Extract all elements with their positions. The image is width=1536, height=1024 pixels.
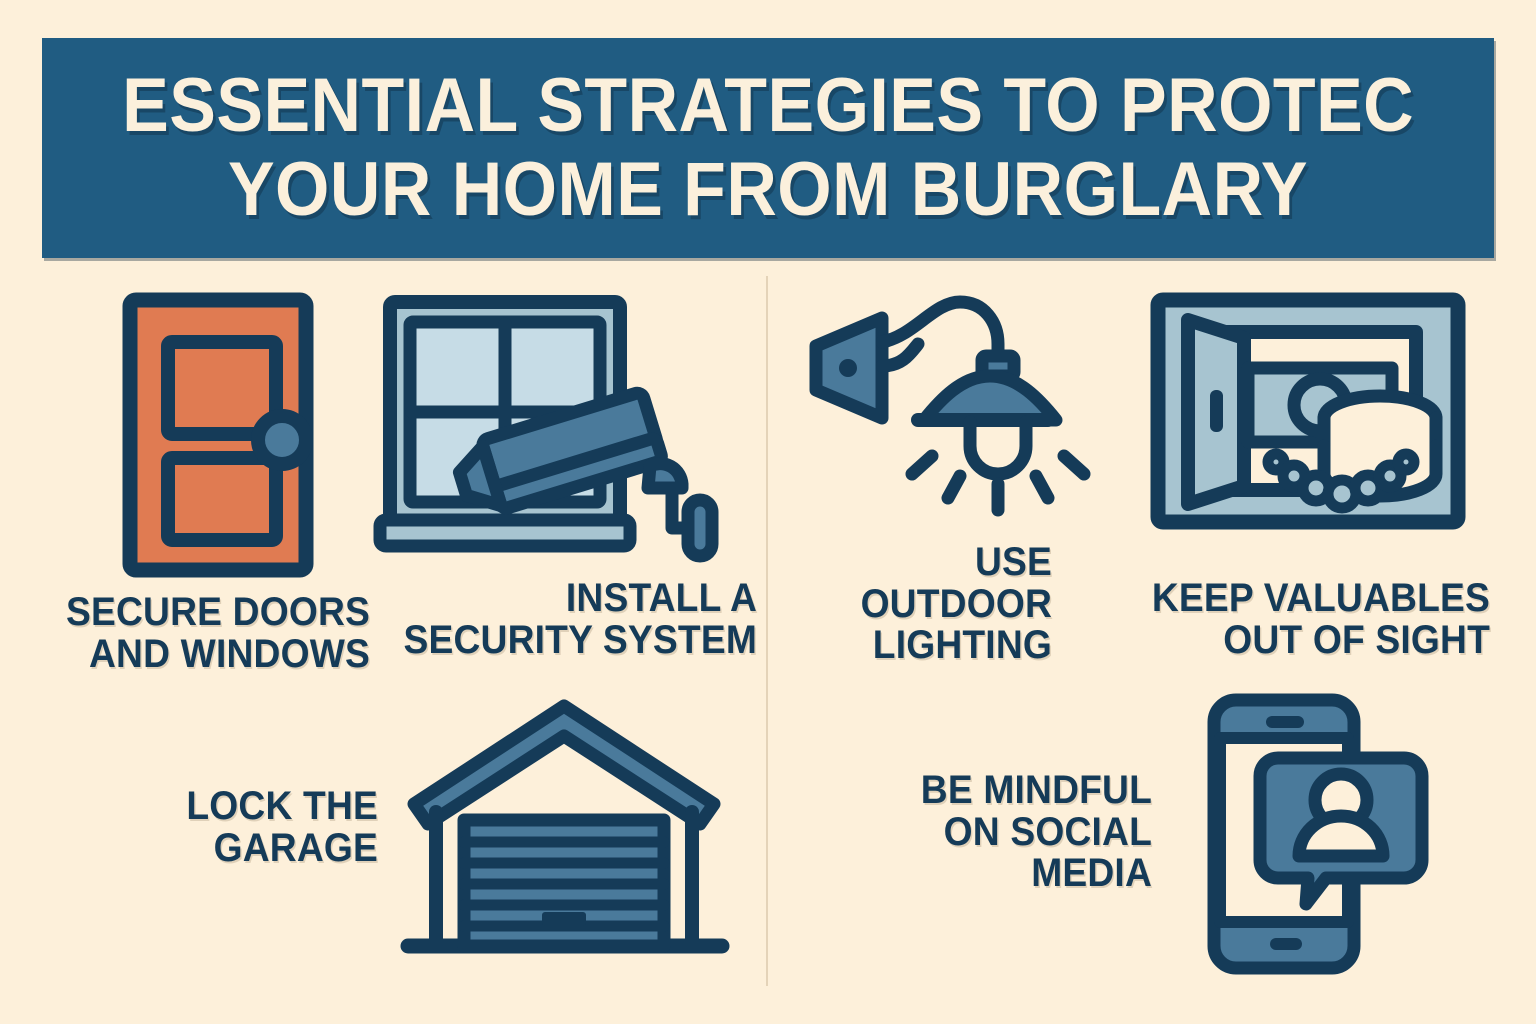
page-title-line-2: YOUR HOME FROM BURGLARY (228, 153, 1308, 227)
tip-label-lock-the-garage: LOCK THE GARAGE (138, 786, 378, 869)
phone-social-icon (1200, 690, 1430, 980)
garage-icon (400, 700, 730, 970)
tip-label-keep-valuables-out-of-sight: KEEP VALUABLES OUT OF SIGHT (1127, 578, 1490, 661)
header-banner: ESSENTIAL STRATEGIES TO PROTEC YOUR HOME… (42, 38, 1494, 258)
safe-icon (1148, 290, 1468, 540)
center-divider (766, 276, 768, 986)
page-title-line-1: ESSENTIAL STRATEGIES TO PROTEC (122, 69, 1414, 143)
tip-label-use-outdoor-lighting: USE OUTDOOR LIGHTING (808, 542, 1052, 667)
window-camera-icon (372, 288, 752, 563)
infographic-canvas: ESSENTIAL STRATEGIES TO PROTEC YOUR HOME… (0, 0, 1536, 1024)
tip-label-install-a-security-system: INSTALL A SECURITY SYSTEM (399, 578, 757, 661)
tip-label-be-mindful-on-social-media: BE MINDFUL ON SOCIAL MEDIA (880, 770, 1152, 895)
outdoor-lamp-icon (802, 292, 1052, 532)
door-icon (118, 290, 338, 580)
tip-label-secure-doors-and-windows: SECURE DOORS AND WINDOWS (63, 592, 370, 675)
